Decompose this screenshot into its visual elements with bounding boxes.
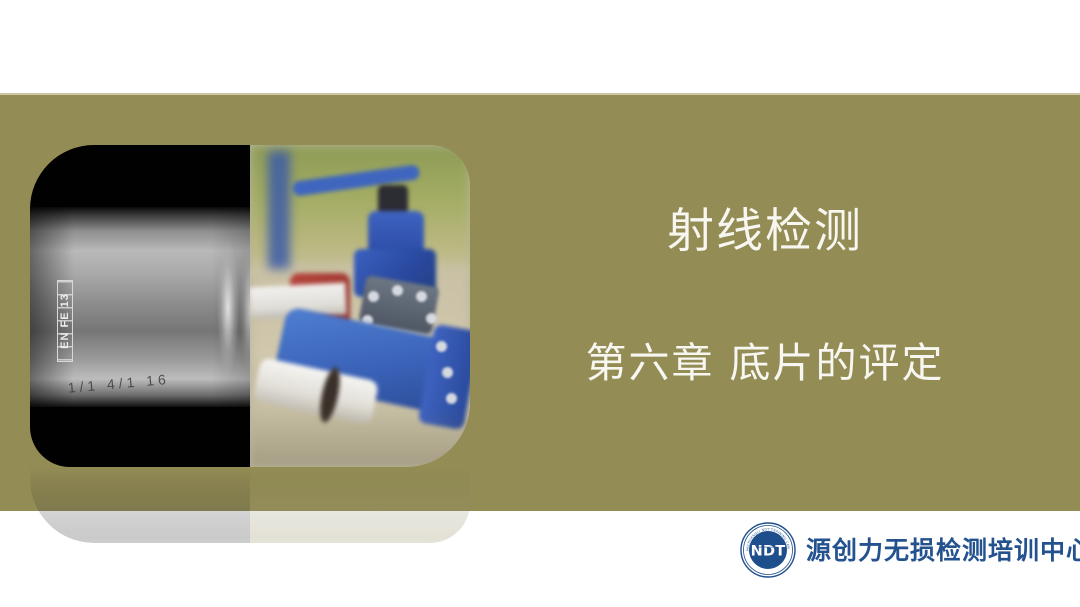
svg-text:NDT: NDT (751, 543, 786, 559)
ndt-badge-icon: ·················· YUANCHUANGLI NDT TRAI… (740, 522, 796, 578)
media-reflection (30, 467, 470, 543)
photo-bolt (442, 367, 453, 378)
brand-name: 源创力无损检测培训中心 (806, 538, 1080, 563)
photo-bottom-shadow (250, 409, 470, 467)
radiograph-image: EN FE 13 1/1 4/1 16 (30, 145, 250, 467)
photo-bolt (368, 291, 379, 302)
photo-bolt (426, 313, 437, 324)
media-group: EN FE 13 1/1 4/1 16 (30, 145, 470, 467)
photo-bolt (416, 291, 427, 302)
page-subtitle: 第六章 底片的评定 (500, 338, 1030, 389)
iqi-label: EN FE 13 (59, 293, 71, 349)
reflection-photo (250, 467, 470, 543)
photo-bolt (446, 393, 457, 404)
valve-photo (250, 145, 470, 467)
reflection-radiograph (30, 467, 250, 543)
slide-root: EN FE 13 1/1 4/1 16 (0, 0, 1080, 607)
brand-logo: ·················· YUANCHUANGLI NDT TRAI… (740, 522, 1080, 578)
photo-blue-post (268, 151, 290, 269)
photo-bolt (392, 285, 403, 296)
page-title: 射线检测 (500, 203, 1030, 262)
media-plate: EN FE 13 1/1 4/1 16 (30, 145, 470, 467)
photo-bolt (436, 341, 447, 352)
radiograph-weld-seam (216, 213, 250, 403)
